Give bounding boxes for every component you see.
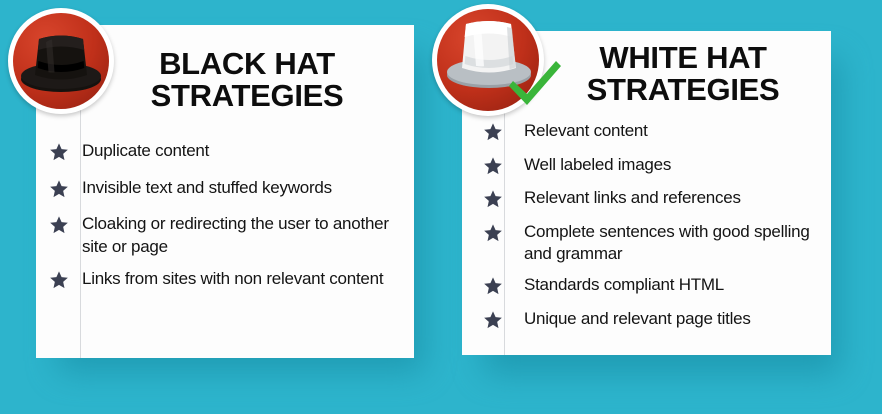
- black-top-hat-icon: [13, 13, 109, 109]
- list-item-label: Relevant content: [524, 120, 824, 143]
- star-bullet: [36, 268, 82, 290]
- star-icon: [49, 142, 69, 162]
- badge-disc: [437, 9, 539, 111]
- star-icon: [49, 179, 69, 199]
- list-item: Duplicate content: [36, 140, 414, 163]
- list-item: Relevant links and references: [462, 187, 831, 210]
- black-hat-list: Duplicate content Invisible text and stu…: [36, 140, 414, 291]
- black-hat-title: BLACK HAT STRATEGIES: [116, 48, 378, 111]
- white-hat-title: WHITE HAT STRATEGIES: [552, 42, 814, 105]
- list-item-label: Links from sites with non relevant conte…: [82, 268, 392, 291]
- star-icon: [483, 156, 503, 176]
- white-top-hat-icon: [437, 9, 539, 111]
- white-hat-title-line-2: STRATEGIES: [552, 74, 814, 106]
- star-bullet: [462, 120, 524, 142]
- list-item: Complete sentences with good spelling an…: [462, 221, 831, 266]
- star-bullet: [462, 308, 524, 330]
- star-icon: [483, 310, 503, 330]
- white-hat-badge: [432, 4, 544, 116]
- star-bullet: [36, 177, 82, 199]
- star-icon: [483, 122, 503, 142]
- infographic-root: BLACK HAT STRATEGIES Duplicate content I…: [0, 0, 882, 414]
- list-item-label: Well labeled images: [524, 154, 824, 177]
- white-hat-list: Relevant content Well labeled images Rel…: [462, 120, 831, 330]
- list-item-label: Complete sentences with good spelling an…: [524, 221, 820, 266]
- list-item-label: Duplicate content: [82, 140, 402, 163]
- star-bullet: [36, 213, 82, 235]
- list-item-label: Relevant links and references: [524, 187, 824, 210]
- list-item: Invisible text and stuffed keywords: [36, 177, 414, 200]
- list-item: Unique and relevant page titles: [462, 308, 831, 331]
- star-bullet: [462, 221, 524, 243]
- star-icon: [483, 189, 503, 209]
- star-bullet: [462, 154, 524, 176]
- star-icon: [483, 223, 503, 243]
- list-item-label: Unique and relevant page titles: [524, 308, 824, 331]
- list-item: Relevant content: [462, 120, 831, 143]
- black-hat-badge: [8, 8, 114, 114]
- badge-disc: [13, 13, 109, 109]
- black-hat-title-line-2: STRATEGIES: [116, 80, 378, 112]
- list-item-label: Cloaking or redirecting the user to anot…: [82, 213, 396, 258]
- list-item-label: Standards compliant HTML: [524, 274, 824, 297]
- star-bullet: [36, 140, 82, 162]
- black-hat-title-line-1: BLACK HAT: [116, 48, 378, 80]
- list-item-label: Invisible text and stuffed keywords: [82, 177, 402, 200]
- star-icon: [49, 215, 69, 235]
- star-bullet: [462, 187, 524, 209]
- list-item: Cloaking or redirecting the user to anot…: [36, 213, 414, 258]
- star-bullet: [462, 274, 524, 296]
- star-icon: [483, 276, 503, 296]
- white-hat-title-line-1: WHITE HAT: [552, 42, 814, 74]
- list-item: Well labeled images: [462, 154, 831, 177]
- list-item: Standards compliant HTML: [462, 274, 831, 297]
- star-icon: [49, 270, 69, 290]
- list-item: Links from sites with non relevant conte…: [36, 268, 414, 291]
